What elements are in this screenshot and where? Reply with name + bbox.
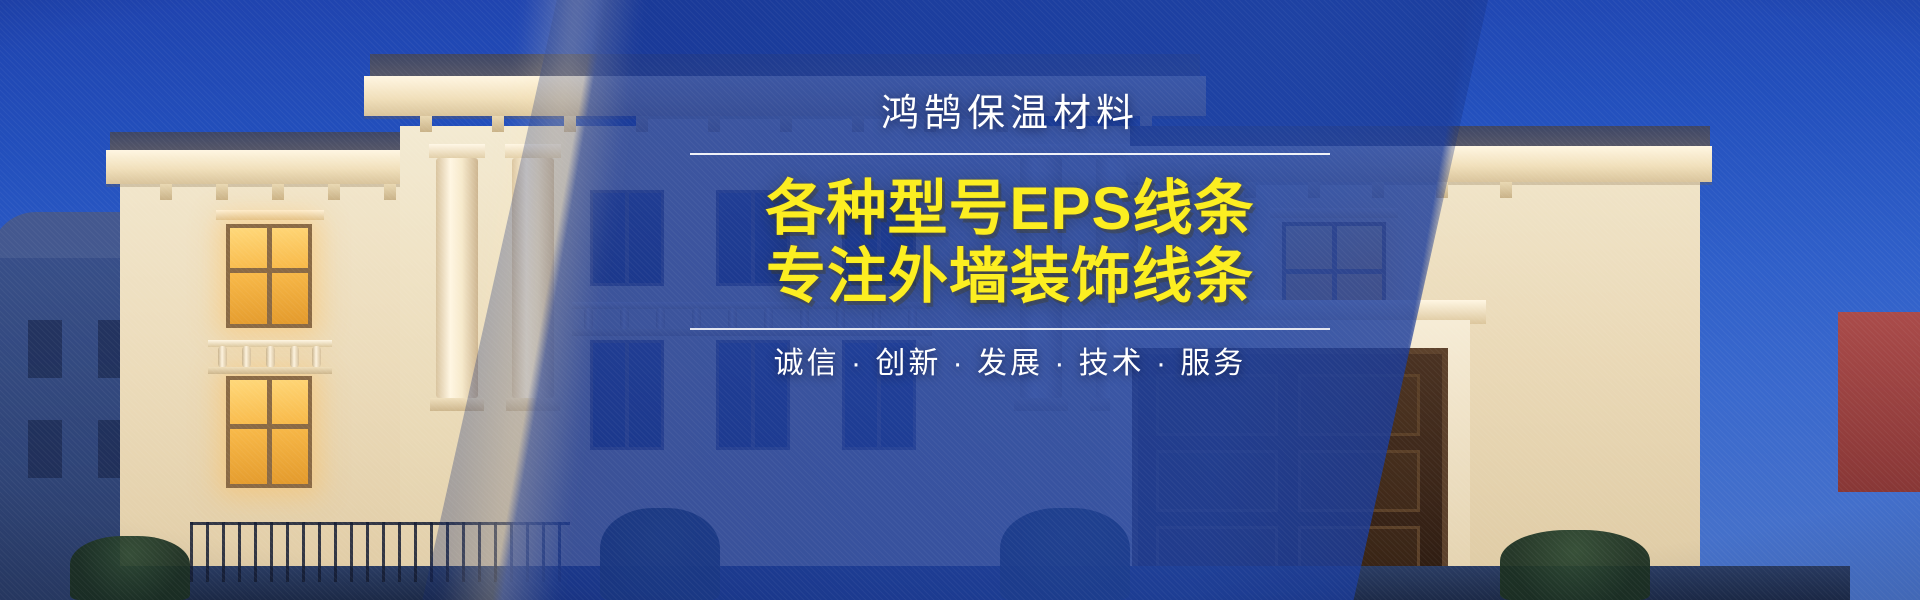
- tagline: 诚信 · 创新 · 发展 · 技术 · 服务: [690, 346, 1330, 382]
- hero-banner: 鸿鹄保温材料 各种型号EPS线条 专注外墙装饰线条 诚信 · 创新 · 发展 ·…: [0, 0, 1920, 600]
- headline-line-2: 专注外墙装饰线条: [690, 243, 1330, 311]
- brand-name: 鸿鹄保温材料: [690, 92, 1330, 137]
- dentil: [160, 184, 172, 200]
- dentil: [492, 116, 504, 132]
- distant-window: [28, 420, 62, 478]
- headline-line-1: 各种型号EPS线条: [690, 175, 1330, 243]
- baluster: [290, 346, 299, 368]
- dentil: [216, 184, 228, 200]
- dentil: [328, 184, 340, 200]
- baluster: [266, 346, 275, 368]
- lit-window: [226, 224, 312, 328]
- left-wing-cornice: [106, 150, 442, 184]
- baluster: [312, 346, 321, 368]
- divider-bottom: [690, 328, 1330, 330]
- hedge: [70, 536, 190, 600]
- window-hood: [216, 210, 324, 220]
- dentil: [1500, 182, 1512, 198]
- banner-copy: 鸿鹄保温材料 各种型号EPS线条 专注外墙装饰线条 诚信 · 创新 · 发展 ·…: [690, 92, 1330, 382]
- baluster: [242, 346, 251, 368]
- dentil: [384, 184, 396, 200]
- lit-window: [226, 376, 312, 488]
- divider-top: [690, 153, 1330, 155]
- shipping-container: [1838, 312, 1920, 492]
- dentil: [420, 116, 432, 132]
- hedge: [1500, 530, 1650, 600]
- balustrade-rail: [208, 367, 332, 374]
- column-capital: [429, 144, 485, 158]
- baluster: [218, 346, 227, 368]
- distant-window: [28, 320, 62, 378]
- dentil: [272, 184, 284, 200]
- balustrade: [208, 340, 332, 374]
